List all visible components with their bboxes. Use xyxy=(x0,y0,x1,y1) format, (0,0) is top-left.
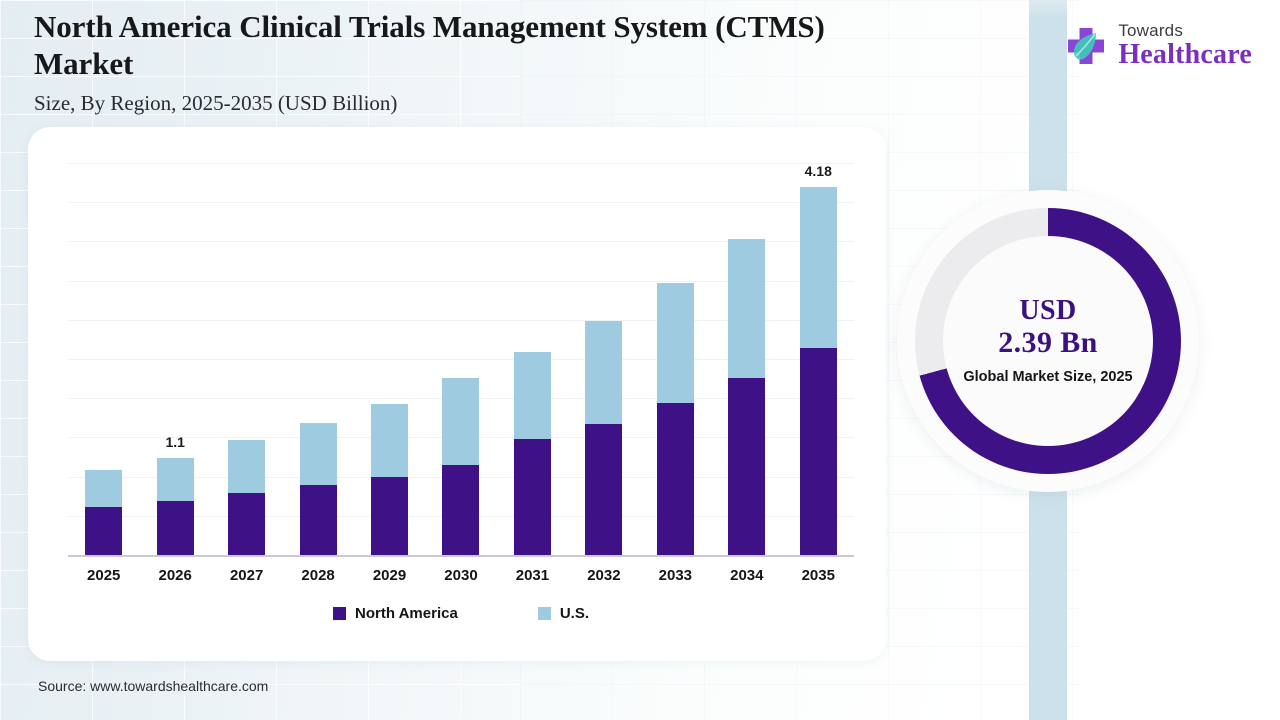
bar-slot: 1.1 xyxy=(139,163,210,555)
bar-segment-north-america[interactable] xyxy=(585,424,622,555)
x-axis-tick-2032: 2032 xyxy=(568,567,639,584)
bar-segment-us[interactable] xyxy=(800,187,837,348)
bar-slot xyxy=(211,163,282,555)
legend-swatch-icon xyxy=(333,607,346,620)
title-block: North America Clinical Trials Management… xyxy=(34,8,864,116)
bar-segment-north-america[interactable] xyxy=(514,439,551,555)
brand-logo[interactable]: Towards Healthcare xyxy=(1063,22,1252,69)
stacked-bar[interactable] xyxy=(657,283,694,555)
bar-slot xyxy=(68,163,139,555)
bar-segment-us[interactable] xyxy=(371,404,408,477)
bar-segment-us[interactable] xyxy=(728,239,765,378)
bar-slot xyxy=(425,163,496,555)
bar-segment-us[interactable] xyxy=(442,378,479,465)
stacked-bar[interactable] xyxy=(228,440,265,555)
bar-segment-north-america[interactable] xyxy=(300,485,337,555)
chart-card: 1.14.18 20252026202720282029203020312032… xyxy=(28,127,886,661)
plot-area: 1.14.18 xyxy=(68,163,854,557)
logo-line-2: Healthcare xyxy=(1118,41,1252,69)
bar-segment-us[interactable] xyxy=(585,321,622,424)
kpi-donut: USD 2.39 Bn Global Market Size, 2025 xyxy=(897,190,1199,492)
bar-segment-us[interactable] xyxy=(657,283,694,403)
x-axis-tick-2027: 2027 xyxy=(211,567,282,584)
bar-slot xyxy=(354,163,425,555)
bar-segment-north-america[interactable] xyxy=(728,378,765,555)
bar-segment-us[interactable] xyxy=(514,352,551,439)
x-axis-labels: 2025202620272028202920302031203220332034… xyxy=(68,567,854,584)
legend-swatch-icon xyxy=(538,607,551,620)
x-axis-line xyxy=(68,555,854,557)
stacked-bar[interactable]: 1.1 xyxy=(157,458,194,555)
bar-value-label: 4.18 xyxy=(805,163,832,179)
x-axis-tick-2028: 2028 xyxy=(282,567,353,584)
legend-item[interactable]: North America xyxy=(333,605,458,622)
legend-item[interactable]: U.S. xyxy=(538,605,589,622)
bar-segment-north-america[interactable] xyxy=(442,465,479,555)
bar-segment-north-america[interactable] xyxy=(800,348,837,555)
bar-segment-us[interactable] xyxy=(228,440,265,494)
bar-slot xyxy=(640,163,711,555)
kpi-caption: Global Market Size, 2025 xyxy=(963,368,1132,387)
x-axis-tick-2033: 2033 xyxy=(640,567,711,584)
chart-legend: North AmericaU.S. xyxy=(68,605,854,622)
page-subtitle: Size, By Region, 2025-2035 (USD Billion) xyxy=(34,90,864,116)
bar-value-label: 1.1 xyxy=(165,434,184,450)
bar-segment-us[interactable] xyxy=(157,458,194,501)
x-axis-tick-2035: 2035 xyxy=(783,567,854,584)
x-axis-tick-2031: 2031 xyxy=(497,567,568,584)
stacked-bar[interactable] xyxy=(442,378,479,555)
bar-segment-north-america[interactable] xyxy=(85,507,122,555)
legend-label: U.S. xyxy=(560,605,589,622)
logo-wordmark: Towards Healthcare xyxy=(1118,22,1252,69)
bar-segment-north-america[interactable] xyxy=(657,403,694,555)
stacked-bar[interactable] xyxy=(585,321,622,555)
source-note: Source: www.towardshealthcare.com xyxy=(38,678,268,694)
stacked-bar[interactable]: 4.18 xyxy=(800,187,837,555)
x-axis-tick-2030: 2030 xyxy=(425,567,496,584)
kpi-value: 2.39 Bn xyxy=(998,326,1098,360)
page-title: North America Clinical Trials Management… xyxy=(34,8,864,82)
header: North America Clinical Trials Management… xyxy=(0,0,1280,120)
bar-slot xyxy=(282,163,353,555)
bar-slot: 4.18 xyxy=(783,163,854,555)
legend-label: North America xyxy=(355,605,458,622)
kpi-currency: USD xyxy=(1019,295,1076,326)
stacked-bar[interactable] xyxy=(371,404,408,556)
x-axis-tick-2026: 2026 xyxy=(139,567,210,584)
stacked-bar[interactable] xyxy=(514,352,551,555)
bar-slot xyxy=(497,163,568,555)
x-axis-tick-2025: 2025 xyxy=(68,567,139,584)
bar-segment-north-america[interactable] xyxy=(157,501,194,555)
stacked-bar[interactable] xyxy=(300,423,337,555)
stacked-bar[interactable] xyxy=(85,470,122,555)
bar-segment-north-america[interactable] xyxy=(371,477,408,555)
cross-leaf-logo-icon xyxy=(1063,23,1109,69)
stacked-bar[interactable] xyxy=(728,239,765,555)
donut-center: USD 2.39 Bn Global Market Size, 2025 xyxy=(943,236,1153,446)
x-axis-tick-2029: 2029 xyxy=(354,567,425,584)
x-axis-tick-2034: 2034 xyxy=(711,567,782,584)
bar-slot xyxy=(568,163,639,555)
bar-segment-us[interactable] xyxy=(300,423,337,486)
bar-segment-north-america[interactable] xyxy=(228,493,265,555)
logo-line-1: Towards xyxy=(1118,22,1252,39)
bar-group: 1.14.18 xyxy=(68,163,854,555)
bar-slot xyxy=(711,163,782,555)
bar-segment-us[interactable] xyxy=(85,470,122,507)
